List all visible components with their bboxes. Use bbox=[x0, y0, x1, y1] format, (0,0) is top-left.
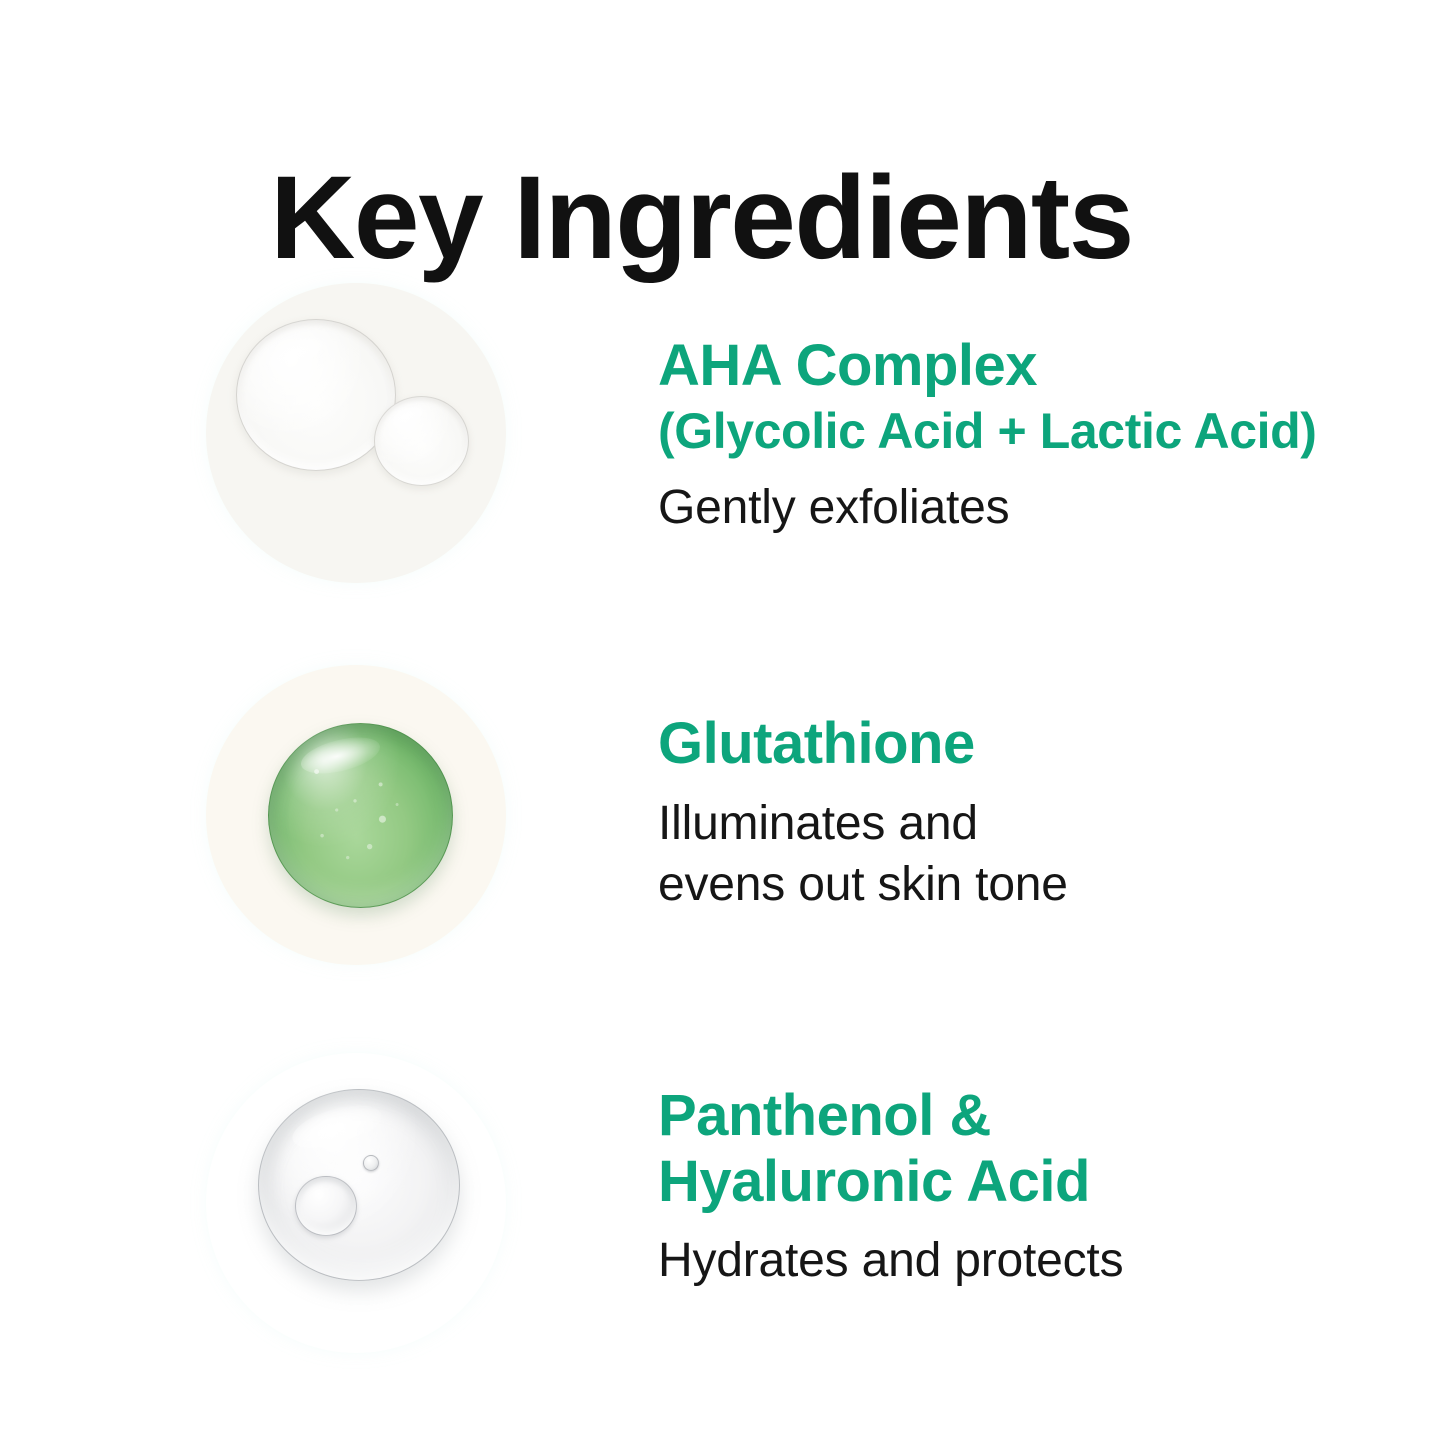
large-clear-droplet-icon bbox=[236, 319, 396, 471]
inner-bubble-icon bbox=[295, 1176, 357, 1237]
ingredient-subheading: (Glycolic Acid + Lactic Acid) bbox=[658, 401, 1418, 461]
description-line: Illuminates and bbox=[658, 793, 1418, 854]
ingredient-row-glutathione: Glutathione Illuminates and evens out sk… bbox=[0, 637, 1445, 1017]
water-droplet-swatch bbox=[178, 1025, 534, 1381]
heading-line: Hyaluronic Acid bbox=[658, 1149, 1418, 1215]
key-ingredients-infographic: Key Ingredients AHA Complex (Glycolic Ac… bbox=[0, 0, 1445, 1446]
clear-serum-droplets-swatch bbox=[178, 255, 534, 611]
ingredient-text-glutathione: Glutathione Illuminates and evens out sk… bbox=[658, 711, 1418, 915]
ingredient-description: Illuminates and evens out skin tone bbox=[658, 793, 1418, 916]
ingredient-description: Gently exfoliates bbox=[658, 477, 1418, 538]
ingredient-heading: Panthenol & Hyaluronic Acid bbox=[658, 1083, 1418, 1214]
heading-line: Panthenol & bbox=[658, 1083, 1418, 1149]
ingredient-row-aha-complex: AHA Complex (Glycolic Acid + Lactic Acid… bbox=[0, 255, 1445, 635]
description-line: Gently exfoliates bbox=[658, 477, 1418, 538]
green-gel-droplet-swatch bbox=[178, 637, 534, 993]
small-clear-droplet-icon bbox=[374, 396, 469, 486]
ingredient-heading: Glutathione bbox=[658, 711, 1418, 777]
description-line: Hydrates and protects bbox=[658, 1230, 1418, 1291]
green-gel-droplet-icon bbox=[268, 723, 453, 908]
description-line: evens out skin tone bbox=[658, 854, 1418, 915]
swatch-disc bbox=[206, 283, 506, 583]
ingredient-text-panthenol-hyaluronic-acid: Panthenol & Hyaluronic Acid Hydrates and… bbox=[658, 1083, 1418, 1292]
large-water-droplet-icon bbox=[258, 1089, 460, 1281]
ingredient-description: Hydrates and protects bbox=[658, 1230, 1418, 1291]
ingredient-heading: AHA Complex bbox=[658, 333, 1418, 399]
droplet-highlight bbox=[288, 1097, 386, 1157]
ingredient-row-panthenol-hyaluronic-acid: Panthenol & Hyaluronic Acid Hydrates and… bbox=[0, 1025, 1445, 1405]
ingredient-text-aha-complex: AHA Complex (Glycolic Acid + Lactic Acid… bbox=[658, 333, 1418, 538]
swatch-disc bbox=[206, 665, 506, 965]
tiny-bubble-icon bbox=[363, 1155, 379, 1171]
swatch-disc bbox=[206, 1053, 506, 1353]
